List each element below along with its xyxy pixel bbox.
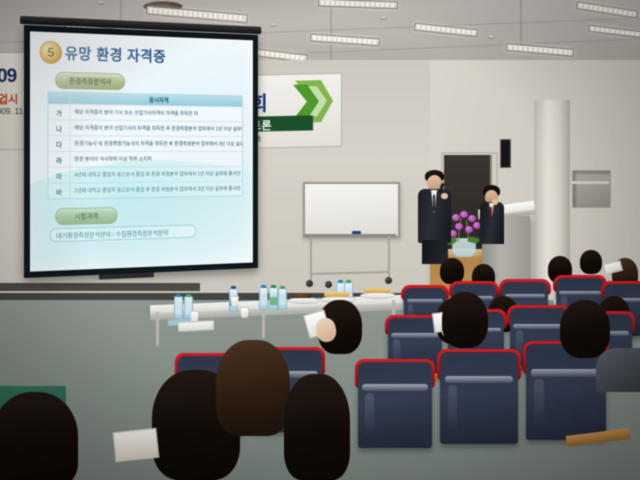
auditorium-seat[interactable] (526, 344, 606, 440)
audience-head-foreground (560, 300, 610, 358)
whiteboard-caster (306, 280, 313, 287)
dark-snack (292, 294, 312, 298)
row-label: 나 (48, 120, 70, 135)
orchid-flower (460, 211, 468, 218)
presenter (416, 170, 456, 262)
table-header-cell-blank (48, 92, 70, 103)
poster-korean-text: 업시 (0, 91, 18, 107)
audience-head-foreground (0, 392, 78, 480)
projected-slide: 5 유망 환경 자격증 환경측정분석사 응시자격 가 해당 자격증의 분야 기사… (30, 31, 253, 272)
ceiling-light-fixture (506, 43, 574, 57)
table-row: 마 4년제 대학교 졸업자 등으로서 졸업 후 환경 측정분석 업무에서 1년 … (48, 166, 242, 183)
podium-person (479, 185, 507, 245)
audience-head-foreground (216, 340, 290, 436)
slide-number-badge: 5 (40, 41, 62, 65)
whiteboard-marker (352, 231, 361, 234)
ceiling-light-fixture (588, 25, 640, 39)
row-text: 환경기능사 및 환경측정기능사의 자격을 취득한 후 환경측정분석 업무에서 3… (71, 136, 242, 151)
table-leg (156, 312, 159, 346)
audience-head-foreground (442, 292, 488, 348)
table-row: 라 환경 분야의 석사학위 이상 학위 소지자 (48, 151, 242, 167)
row-label: 가 (48, 104, 70, 119)
paper-cup (240, 307, 249, 318)
whiteboard-caster (385, 277, 392, 284)
whiteboard-leg (310, 236, 312, 282)
water-bottle (259, 287, 268, 310)
auditorium-seat[interactable] (440, 352, 518, 444)
wall-speaker-icon (500, 139, 511, 168)
food-plate (360, 292, 396, 299)
audience-head-foreground (284, 374, 350, 480)
row-text: 4년제 대학교 졸업자 등으로서 졸업 후 환경 측정분석 업무에서 1년 이상… (71, 167, 242, 183)
audience-paper (113, 428, 160, 462)
slide-button-top: 환경측정분석사 (55, 72, 125, 90)
slide-button-bottom: 시험과목 (55, 207, 117, 225)
pastry (364, 288, 391, 293)
lecture-hall-photo: 09 업시 009. 11. 수회 전략토론 환경공학과 5 유망 환경 자격증… (0, 0, 640, 480)
whiteboard (303, 182, 400, 238)
row-label: 바 (48, 183, 70, 198)
wall-niche (572, 170, 611, 208)
table-row: 다 환경기능사 및 환경측정기능사의 자격을 취득한 후 환경측정분석 업무에서… (48, 135, 242, 151)
row-text: 해당 자격증의 분야 기사 또는 산업기사자격의 자격을 취득한 자 (71, 105, 242, 122)
table-leg (262, 308, 265, 338)
orchid-flower (465, 226, 473, 233)
ceiling-light-fixture (310, 34, 380, 47)
auditorium-seat[interactable] (358, 362, 432, 448)
orchid-flower (455, 223, 463, 230)
whiteboard-caster (325, 281, 332, 288)
table-row: 바 2년제 대학교 졸업자 등으로서 졸업 후 환경 측정분석 업무에서 3년 … (48, 181, 242, 199)
audience-head (580, 250, 602, 274)
row-text: 환경 분야의 석사학위 이상 학위 소지자 (71, 152, 242, 167)
ceiling-light-fixture (576, 1, 638, 19)
slide-table: 응시자격 가 해당 자격증의 분야 기사 또는 산업기사자격의 자격을 취득한 … (47, 91, 242, 199)
food-plate (288, 297, 320, 304)
ceiling-light-fixture (146, 6, 248, 24)
baseboard (0, 283, 200, 291)
row-label: 다 (48, 136, 70, 151)
pastry (324, 292, 350, 297)
whiteboard-leg (388, 236, 390, 280)
slide-title: 유망 환경 자격증 (65, 43, 166, 67)
water-bottle (278, 288, 287, 310)
whiteboard-tray (303, 234, 396, 237)
audience-shoulder (596, 348, 640, 392)
projection-screen: 5 유망 환경 자격증 환경측정분석사 응시자격 가 해당 자격증의 분야 기사… (24, 25, 258, 278)
row-label: 라 (48, 152, 70, 167)
niche-shelf (572, 181, 609, 184)
water-bottle (269, 287, 278, 310)
poster-year: 09 (0, 66, 16, 88)
table-row: 가 해당 자격증의 분야 기사 또는 산업기사자격의 자격을 취득한 자 (48, 103, 242, 121)
slide-footer-note: 대기환경측정분석분야 / 수질환경측정분석분야 (49, 224, 196, 242)
water-bottle (174, 296, 183, 319)
orchid-flower (468, 215, 476, 222)
paper-cup (190, 311, 199, 322)
paper-cup (230, 296, 239, 307)
row-text: 해당 자격증의 분야 산업기사의 자격을 취득한 후 환경측정분석 업무에서 1… (71, 120, 242, 136)
row-text: 2년제 대학교 졸업자 등으로서 졸업 후 환경 측정분석 업무에서 3년 이상… (71, 182, 242, 199)
table-row: 나 해당 자격증의 분야 산업기사의 자격을 취득한 후 환경측정분석 업무에서… (48, 119, 242, 136)
row-label: 마 (48, 168, 70, 183)
poster-date: 009. 11. (0, 107, 25, 116)
